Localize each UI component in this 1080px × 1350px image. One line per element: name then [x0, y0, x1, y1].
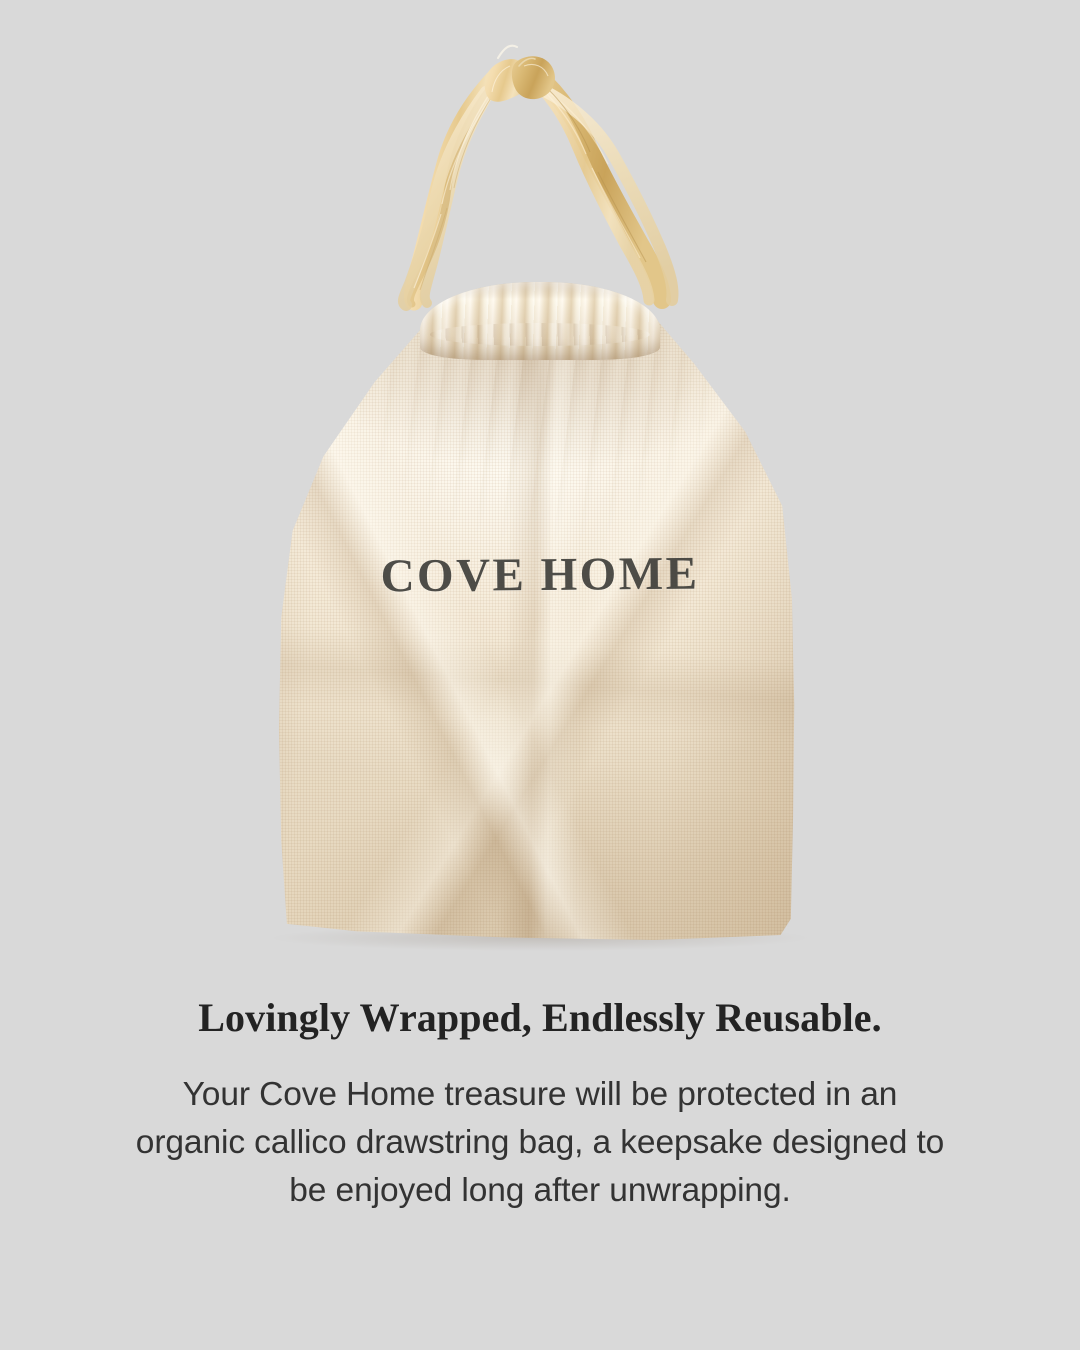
bag-gathered-top [420, 282, 660, 360]
caption-body: Your Cove Home treasure will be protecte… [65, 1071, 1015, 1215]
caption-body-line-2: organic callico drawstring bag, a keepsa… [65, 1119, 1015, 1167]
caption-body-line-1: Your Cove Home treasure will be protecte… [65, 1071, 1015, 1119]
bag-brand-print: COVE HOME [255, 546, 825, 605]
drawstring-cord-right [526, 68, 673, 300]
promo-canvas: COVE HOME Lovingly Wrapped, Endlessly Re… [0, 0, 1080, 1350]
drawstring-cord-left [404, 72, 503, 305]
product-photo: COVE HOME [0, 0, 1080, 960]
caption-block: Lovingly Wrapped, Endlessly Reusable. Yo… [0, 995, 1080, 1215]
drawstring-knot [485, 46, 555, 102]
caption-heading: Lovingly Wrapped, Endlessly Reusable. [0, 995, 1080, 1041]
drawstring-bag: COVE HOME [255, 280, 825, 940]
caption-body-line-3: be enjoyed long after unwrapping. [65, 1167, 1015, 1215]
bag-body [255, 320, 825, 940]
